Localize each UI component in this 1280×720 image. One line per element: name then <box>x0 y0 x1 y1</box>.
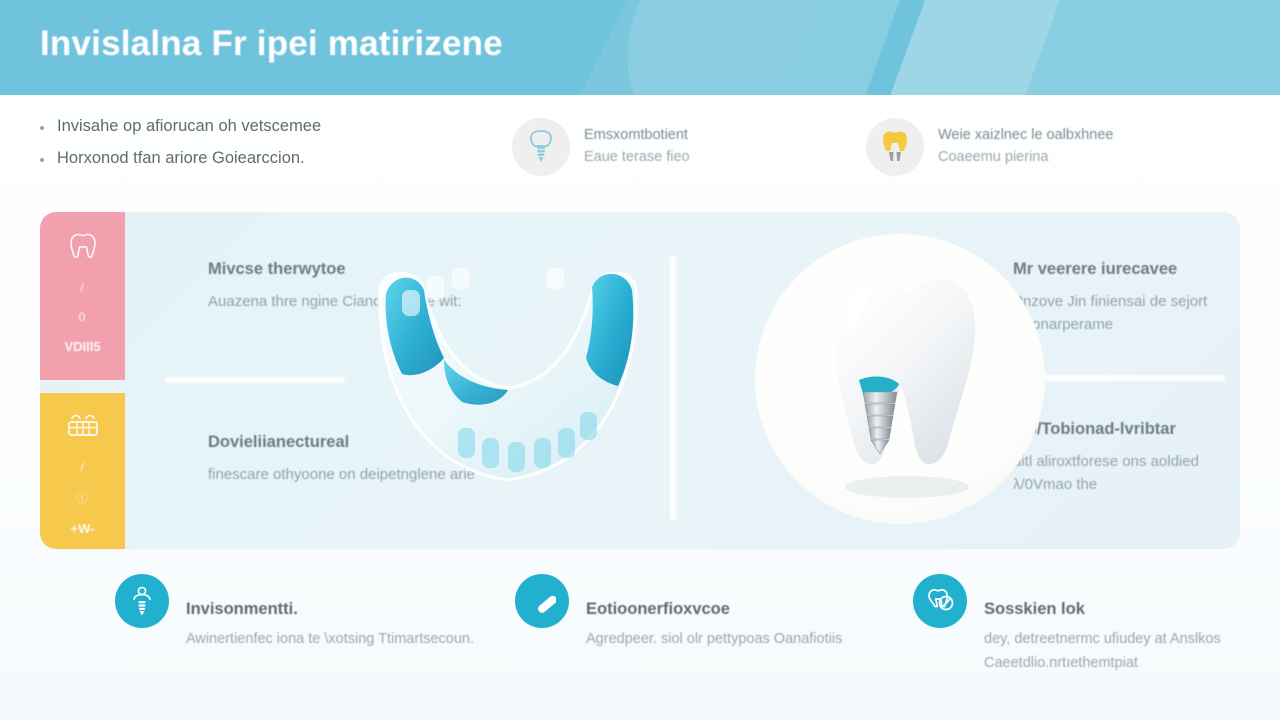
list-item: Horxonod tfan ariore Goiearccion. <box>40 149 480 168</box>
clear-dental-aligner <box>340 232 690 532</box>
page-title: Invislalna Fr ipei matirizene <box>40 24 503 64</box>
bottom-feature-2: Eotioonerfioxvcoe Agredpeer. siol olr pe… <box>515 572 842 652</box>
dental-implant-icon <box>526 129 556 165</box>
panel-tag-yellow: / ⓘ +W- <box>40 393 125 549</box>
implant-person-icon <box>129 586 155 616</box>
check-bar-icon <box>528 587 556 615</box>
feature-line-2: Coaeemu pierina <box>938 147 1113 169</box>
icon-badge <box>913 574 967 628</box>
tooth-shield-icon <box>925 587 955 615</box>
infographic-page: Invislalna Fr ipei matirizene Invisahe o… <box>0 0 1280 720</box>
bottom-feature-1: Invisonmentti. Awinertienfec iona te \xo… <box>115 572 474 652</box>
page-header: Invislalna Fr ipei matirizene <box>0 0 1280 95</box>
icon-badge <box>515 574 569 628</box>
tag-sub-label: ⓘ <box>76 489 89 506</box>
tag-divider-icon: / <box>80 281 84 295</box>
block-heading: lao/Tobionad-lvribtar <box>1013 417 1228 443</box>
divider-horizontal-left <box>165 377 345 383</box>
tag-code-label: VDIIl5 <box>64 339 100 354</box>
feature-text: Eotioonerfioxvcoe Agredpeer. siol olr pe… <box>586 572 842 652</box>
panel-tag-pink: / 0 VDIIl5 <box>40 212 125 380</box>
gold-tooth-icon <box>879 130 911 164</box>
main-panel: / 0 VDIIl5 / ⓘ +W- Mivcse therwytoe Auaz… <box>40 212 1240 549</box>
bullet-dot-icon <box>40 158 44 162</box>
feature-line-1: Emsxomtbotient <box>584 125 690 147</box>
tooth-outline-icon <box>66 232 100 266</box>
tooth-implant-3d <box>795 262 1010 512</box>
feature-title: Sosskien lok <box>984 596 1280 622</box>
icon-badge <box>512 118 570 176</box>
feature-line-1: Weie xaizlnec le oalbxhnee <box>938 125 1113 147</box>
intro-bullet-list: Invisahe op afiorucan oh vetscemee Horxo… <box>40 117 480 181</box>
tag-sub-label: 0 <box>79 310 87 324</box>
bullet-text: Invisahe op afiorucan oh vetscemee <box>57 117 321 136</box>
block-heading: Mr veerere iurecavee <box>1013 257 1228 283</box>
feature-text: Sosskien lok dey, detreetnermc ufiudey a… <box>984 572 1280 675</box>
feature-desc: dey, detreetnermc ufiudey at Anslkos Cae… <box>984 628 1280 674</box>
list-item: Invisahe op afiorucan oh vetscemee <box>40 117 480 136</box>
top-feature-text: Weie xaizlnec le oalbxhnee Coaeemu pieri… <box>938 125 1113 169</box>
icon-badge <box>115 574 169 628</box>
feature-title: Eotioonerfioxvcoe <box>586 596 842 622</box>
divider-horizontal-right <box>1040 375 1225 381</box>
block-body: ditl aliroxtforese ons aoldied λ/0Vmao t… <box>1013 450 1228 497</box>
top-feature-implant: Emsxomtbotient Eaue terase fieo <box>512 118 690 176</box>
icon-badge <box>866 118 924 176</box>
feature-text: Invisonmentti. Awinertienfec iona te \xo… <box>186 572 474 652</box>
block-body: Pnzove Jin finiensai de sejort inconarpe… <box>1013 290 1228 337</box>
feature-desc: Agredpeer. siol olr pettypoas Oanafiotii… <box>586 628 842 651</box>
feature-title: Invisonmentti. <box>186 596 474 622</box>
feature-desc: Awinertienfec iona te \xotsing Ttimartse… <box>186 628 474 651</box>
header-decor-swoosh-2 <box>585 0 914 95</box>
tag-divider-icon: / <box>80 460 84 474</box>
feature-line-2: Eaue terase fieo <box>584 147 690 169</box>
panel-block-top-right: Mr veerere iurecavee Pnzove Jin finiensa… <box>1013 257 1228 336</box>
tag-code-label: +W- <box>71 521 95 536</box>
bullet-dot-icon <box>40 126 44 130</box>
panel-block-bottom-right: lao/Tobionad-lvribtar ditl aliroxtforese… <box>1013 417 1228 496</box>
top-feature-gold-tooth: Weie xaizlnec le oalbxhnee Coaeemu pieri… <box>866 118 1113 176</box>
bullet-text: Horxonod tfan ariore Goiearccion. <box>57 149 305 168</box>
top-feature-text: Emsxomtbotient Eaue terase fieo <box>584 125 690 169</box>
bottom-feature-3: Sosskien lok dey, detreetnermc ufiudey a… <box>913 572 1280 675</box>
braces-retainer-icon <box>64 413 102 445</box>
